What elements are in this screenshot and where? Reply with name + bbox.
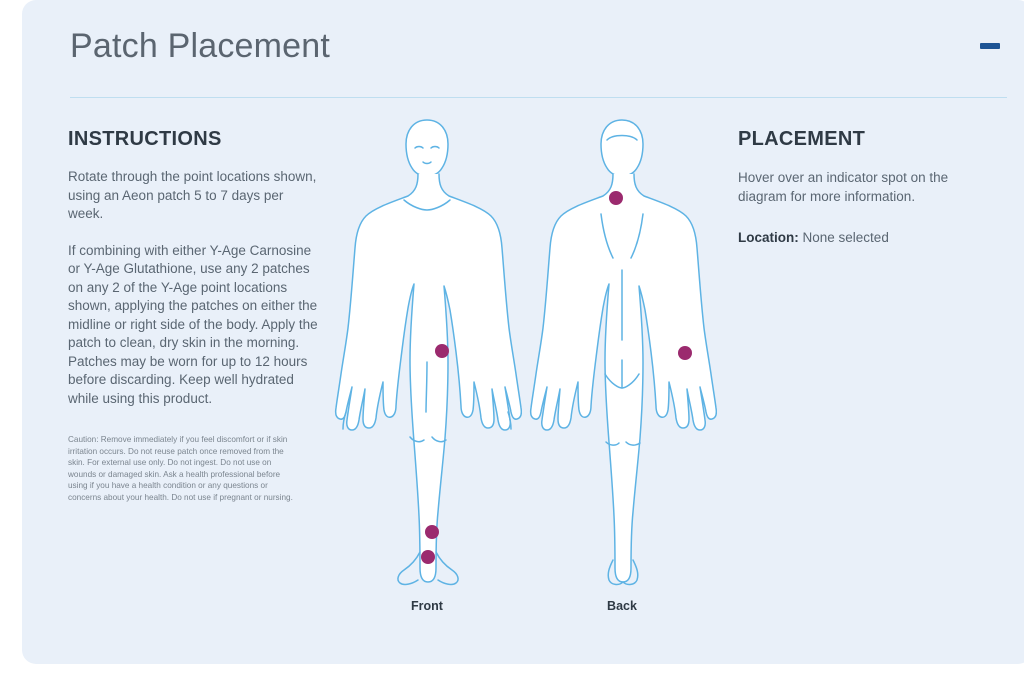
body-diagram: Front	[332, 112, 732, 632]
back-figure-label: Back	[527, 599, 717, 613]
instructions-paragraph-2: If combining with either Y-Age Carnosine…	[68, 242, 318, 409]
back-figure: Back	[527, 112, 717, 592]
placement-heading: PLACEMENT	[738, 128, 998, 151]
spot-front-lower-abdomen[interactable]	[435, 344, 449, 358]
front-figure-label: Front	[332, 599, 522, 613]
instructions-column: INSTRUCTIONS Rotate through the point lo…	[68, 128, 318, 504]
placement-location: Location: None selected	[738, 230, 998, 245]
caution-text: Caution: Remove immediately if you feel …	[68, 434, 300, 504]
front-figure: Front	[332, 112, 522, 592]
minimize-icon[interactable]	[973, 32, 1007, 60]
placement-column: PLACEMENT Hover over an indicator spot o…	[738, 128, 998, 245]
instructions-heading: INSTRUCTIONS	[68, 128, 318, 151]
placement-description: Hover over an indicator spot on the diag…	[738, 168, 998, 206]
patch-placement-card: Patch Placement INSTRUCTIONS Rotate thro…	[22, 0, 1024, 664]
front-body-outline	[332, 112, 522, 592]
spot-front-ankle-upper[interactable]	[425, 525, 439, 539]
minimize-bar	[980, 43, 1000, 49]
card-content: INSTRUCTIONS Rotate through the point lo…	[22, 98, 1024, 664]
instructions-paragraph-1: Rotate through the point locations shown…	[68, 168, 318, 224]
spot-front-ankle-lower[interactable]	[421, 550, 435, 564]
page-title: Patch Placement	[70, 14, 1007, 78]
card-header: Patch Placement	[70, 14, 1007, 98]
spot-back-upper-back-neck[interactable]	[609, 191, 623, 205]
spot-back-right-wrist[interactable]	[678, 346, 692, 360]
placement-location-label: Location:	[738, 230, 799, 245]
placement-location-value: None selected	[803, 230, 889, 245]
